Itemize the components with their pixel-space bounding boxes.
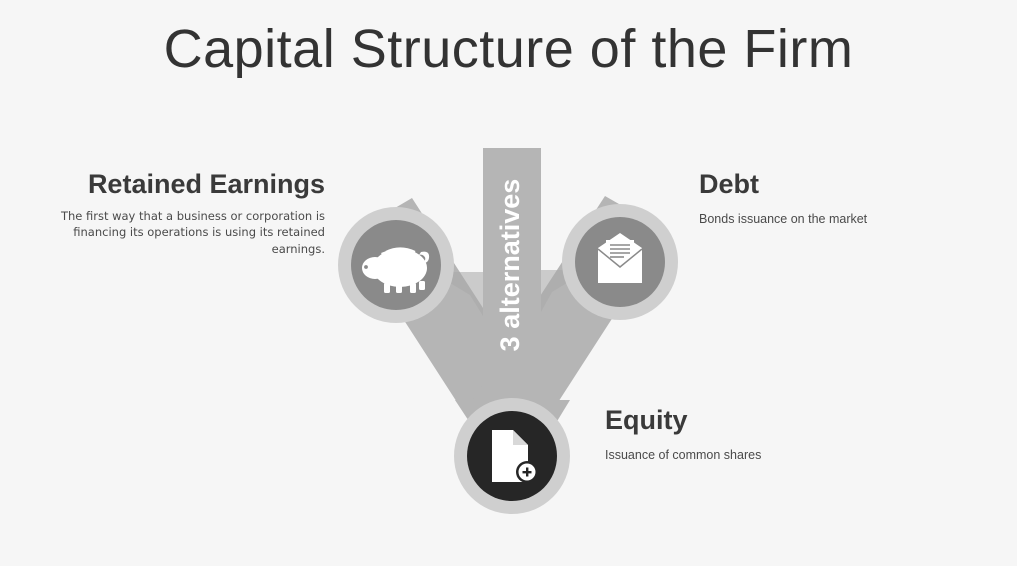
retained-earnings-heading: Retained Earnings — [20, 170, 325, 200]
equity-heading: Equity — [605, 406, 905, 436]
node-equity[interactable] — [454, 398, 570, 514]
node-debt[interactable] — [562, 204, 678, 320]
alternatives-label: 3 alternatives — [495, 179, 525, 352]
label-retained-earnings: Retained Earnings The first way that a b… — [20, 170, 325, 258]
node-retained-earnings[interactable] — [338, 207, 454, 323]
infographic-canvas: Capital Structure of the Firm — [0, 0, 1017, 566]
label-debt: Debt Bonds issuance on the market — [699, 170, 999, 228]
equity-description: Issuance of common shares — [605, 446, 905, 464]
label-equity: Equity Issuance of common shares — [605, 406, 905, 464]
debt-description: Bonds issuance on the market — [699, 210, 999, 228]
retained-earnings-description: The first way that a business or corpora… — [20, 208, 325, 258]
capital-structure-diagram: 3 alternatives — [0, 0, 1017, 566]
debt-heading: Debt — [699, 170, 999, 200]
